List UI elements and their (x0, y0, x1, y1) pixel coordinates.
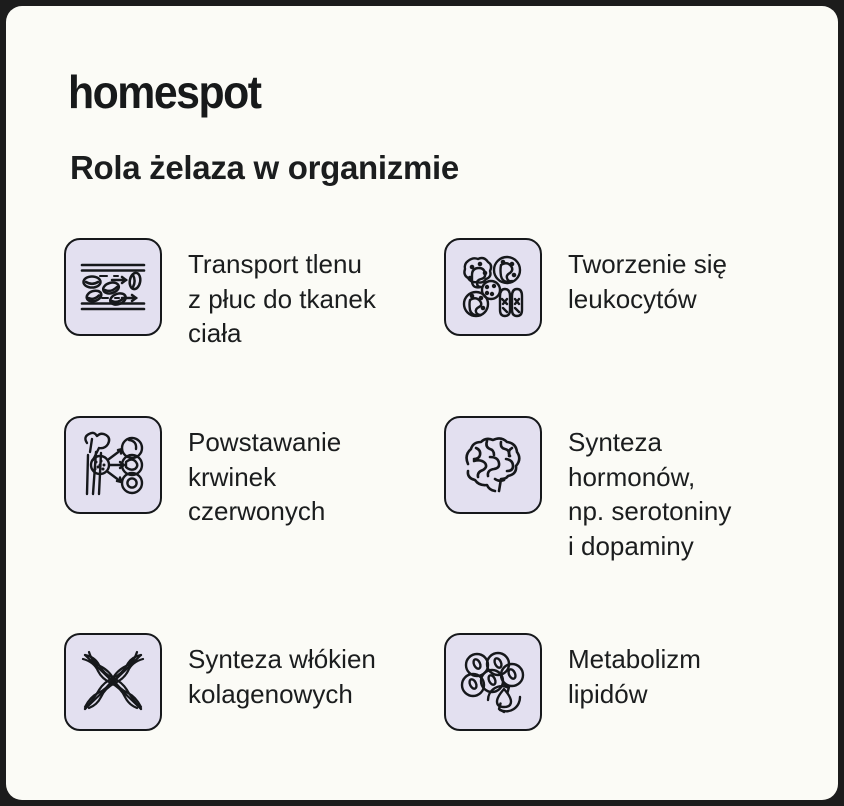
list-item-label: Synteza hormonów, np. serotoniny i dopam… (568, 416, 731, 563)
list-item: Synteza hormonów, np. serotoniny i dopam… (444, 416, 731, 563)
brain-icon (444, 416, 542, 514)
list-item-label: Metabolizm lipidów (568, 633, 701, 711)
list-item: Powstawanie krwinek czerwonych (64, 416, 341, 529)
list-item: Synteza włókien kolagenowych (64, 633, 376, 731)
collagen-fibers-icon (64, 633, 162, 731)
list-item: Transport tlenu z płuc do tkanek ciała (64, 238, 376, 351)
page-title: Rola żelaza w organizmie (70, 148, 459, 188)
lipid-metabolism-icon (444, 633, 542, 731)
list-item: Tworzenie się leukocytów (444, 238, 727, 336)
bone-marrow-red-blood-cells-icon (64, 416, 162, 514)
list-item-label: Tworzenie się leukocytów (568, 238, 727, 316)
list-item-label: Synteza włókien kolagenowych (188, 633, 376, 711)
list-item-label: Powstawanie krwinek czerwonych (188, 416, 341, 529)
blood-vessel-oxygen-transport-icon (64, 238, 162, 336)
infographic-card: homespot Rola żelaza w organizmie (6, 6, 838, 800)
list-item: Metabolizm lipidów (444, 633, 701, 731)
list-item-label: Transport tlenu z płuc do tkanek ciała (188, 238, 376, 351)
brand-logo: homespot (68, 69, 260, 115)
white-blood-cells-icon (444, 238, 542, 336)
